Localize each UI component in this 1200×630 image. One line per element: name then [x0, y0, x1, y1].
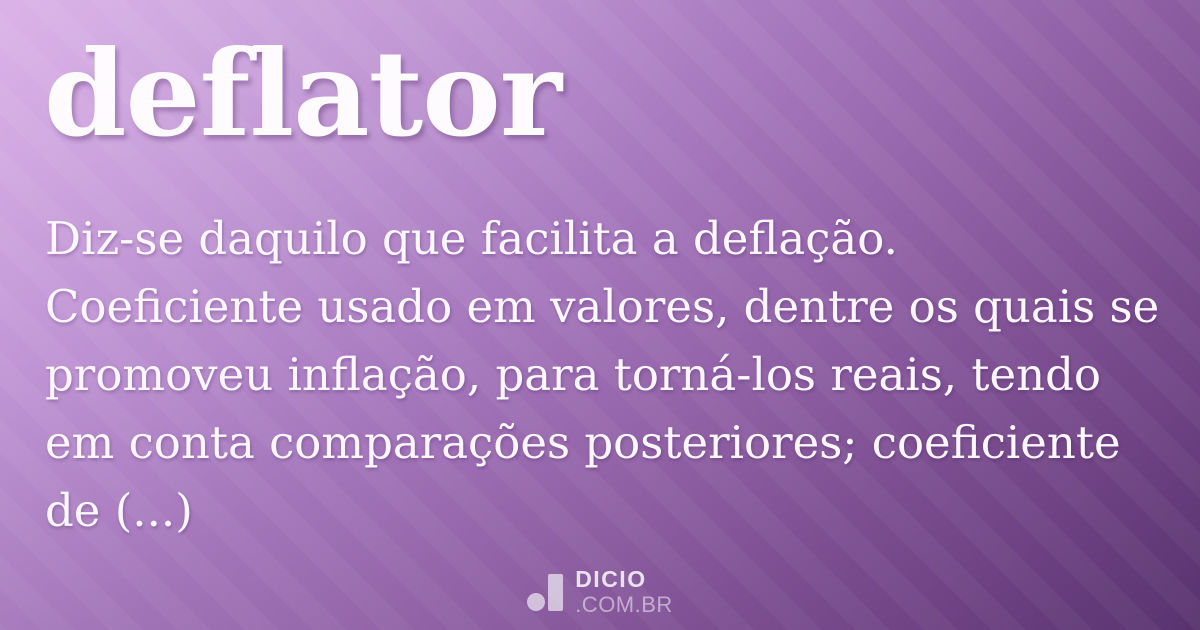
brand-domain: .COM.BR [575, 594, 673, 616]
brand-logo: DICIO .COM.BR [0, 568, 1200, 616]
definition-line-4: em conta comparações posteriores; coefic… [45, 409, 1150, 477]
logo-circle-shape [527, 593, 545, 611]
dicio-logo-icon [527, 574, 563, 611]
definition-line-3: promoveu inflação, para torná-los reais,… [45, 341, 1150, 409]
brand-logo-text: DICIO .COM.BR [575, 568, 673, 616]
definition-line-1: Diz-se daquilo que facilita a deflação. [45, 205, 1150, 273]
definition-line-2: Coeficiente usado em valores, dentre os … [45, 273, 1150, 341]
page-title: deflator [44, 32, 561, 156]
logo-bar-shape [548, 574, 563, 611]
card-content: deflator Diz-se daquilo que facilita a d… [0, 0, 1200, 630]
brand-name: DICIO [575, 568, 673, 591]
definition-block: Diz-se daquilo que facilita a deflação. … [45, 205, 1150, 545]
definition-line-5: de (...) [45, 477, 1150, 545]
definition-card: deflator Diz-se daquilo que facilita a d… [0, 0, 1200, 630]
